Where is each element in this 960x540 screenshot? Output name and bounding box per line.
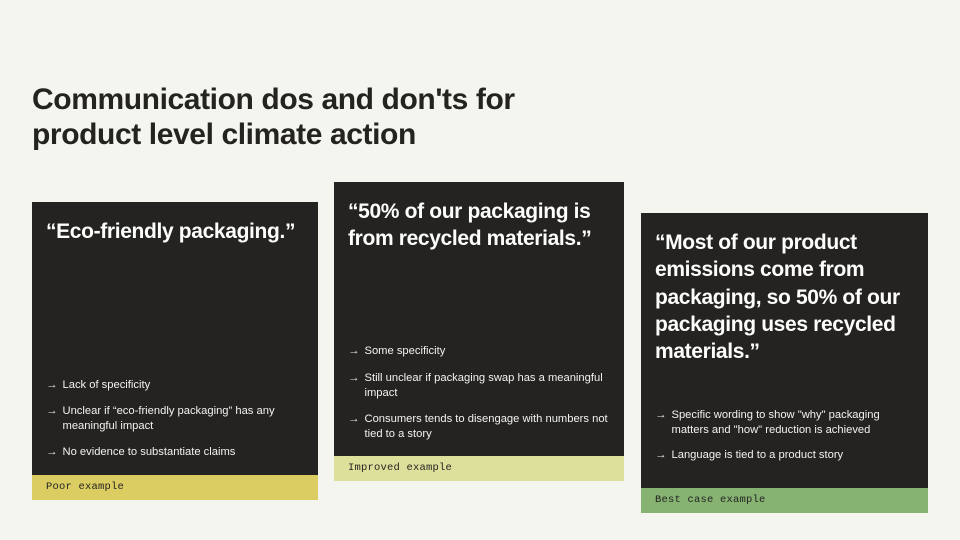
- card-label-poor: Poor example: [32, 475, 318, 500]
- page-title: Communication dos and don'ts for product…: [32, 82, 652, 153]
- bullet-item: → Specific wording to show "why" packagi…: [655, 408, 914, 438]
- card-bullets-poor: → Lack of specificity → Unclear if “eco-…: [46, 366, 304, 461]
- arrow-right-icon: →: [655, 448, 667, 464]
- arrow-right-icon: →: [348, 412, 360, 428]
- bullet-item: → Language is tied to a product story: [655, 448, 914, 464]
- card-label-best: Best case example: [641, 488, 928, 513]
- bullet-text: Consumers tends to disengage with number…: [365, 412, 611, 442]
- card-bullets-improved: → Some specificity → Still unclear if pa…: [348, 332, 610, 442]
- bullet-text: Lack of specificity: [63, 378, 305, 393]
- arrow-right-icon: →: [46, 445, 58, 461]
- card-quote-best: “Most of our product emissions come from…: [655, 229, 914, 365]
- bullet-item: → No evidence to substantiate claims: [46, 445, 304, 461]
- arrow-right-icon: →: [46, 404, 58, 420]
- bullet-text: Unclear if “eco-friendly packaging” has …: [63, 404, 305, 434]
- arrow-right-icon: →: [348, 371, 360, 387]
- card-body-improved: “50% of our packaging is from recycled m…: [334, 182, 624, 456]
- bullet-item: → Some specificity: [348, 344, 610, 360]
- bullet-text: Still unclear if packaging swap has a me…: [365, 371, 611, 401]
- arrow-right-icon: →: [348, 344, 360, 360]
- bullet-text: No evidence to substantiate claims: [63, 445, 305, 460]
- bullet-text: Language is tied to a product story: [672, 448, 915, 463]
- example-card-poor: “Eco-friendly packaging.” → Lack of spec…: [32, 202, 318, 500]
- example-card-improved: “50% of our packaging is from recycled m…: [334, 182, 624, 481]
- card-label-improved: Improved example: [334, 456, 624, 481]
- card-body-poor: “Eco-friendly packaging.” → Lack of spec…: [32, 202, 318, 475]
- example-card-best: “Most of our product emissions come from…: [641, 213, 928, 513]
- bullet-item: → Unclear if “eco-friendly packaging” ha…: [46, 404, 304, 434]
- arrow-right-icon: →: [46, 378, 58, 394]
- slide-canvas: { "slide": { "title": "Communication dos…: [0, 0, 960, 540]
- bullet-item: → Lack of specificity: [46, 378, 304, 394]
- card-quote-poor: “Eco-friendly packaging.”: [46, 218, 304, 245]
- arrow-right-icon: →: [655, 408, 667, 424]
- bullet-item: → Consumers tends to disengage with numb…: [348, 412, 610, 442]
- bullet-text: Specific wording to show "why" packaging…: [672, 408, 915, 438]
- bullet-item: → Still unclear if packaging swap has a …: [348, 371, 610, 401]
- card-quote-improved: “50% of our packaging is from recycled m…: [348, 198, 610, 253]
- card-body-best: “Most of our product emissions come from…: [641, 213, 928, 488]
- bullet-text: Some specificity: [365, 344, 611, 359]
- card-bullets-best: → Specific wording to show "why" packagi…: [655, 398, 914, 474]
